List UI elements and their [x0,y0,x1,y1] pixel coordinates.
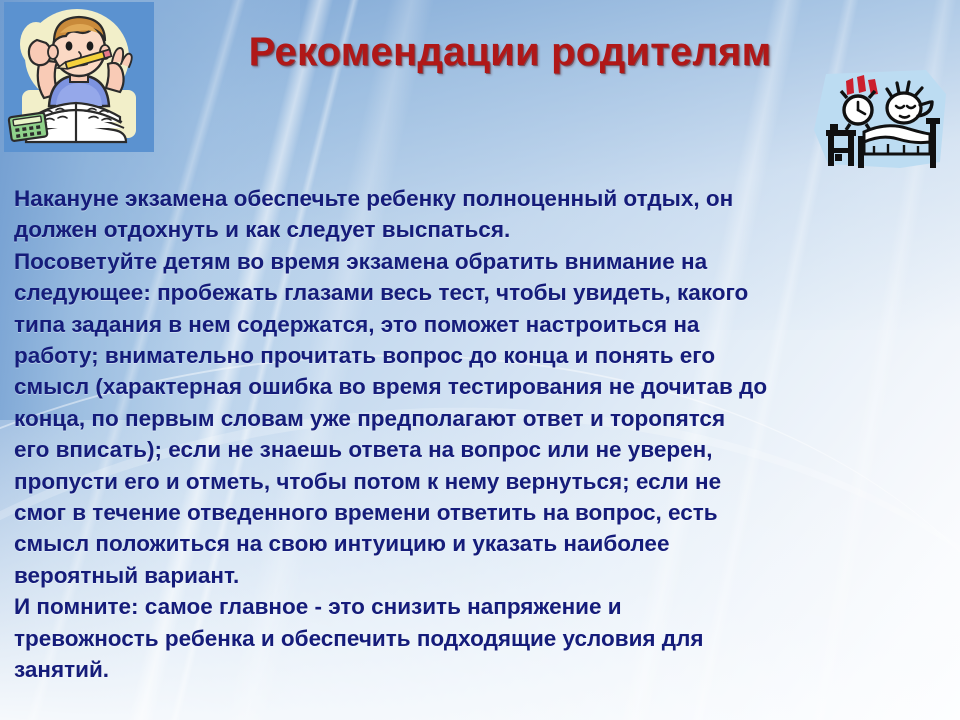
body-text-line: смог в течение отведенного времени ответ… [14,497,944,528]
body-text-line: занятий. [14,654,944,685]
sleeping-in-bed-icon [808,68,952,172]
body-text-line: пропусти его и отметь, чтобы потом к нем… [14,466,944,497]
body-text-line: смысл положиться на свою интуицию и указ… [14,528,944,559]
slide-title: Рекомендации родителям [180,30,840,75]
body-text-line: смысл (характерная ошибка во время тести… [14,371,944,402]
body-text-line: конца, по первым словам уже предполагают… [14,403,944,434]
body-text-line: типа задания в нем содержатся, это помож… [14,309,944,340]
body-text-line: вероятный вариант. [14,560,944,591]
body-text-line: его вписать); если не знаешь ответа на в… [14,434,944,465]
body-text-line: И помните: самое главное - это снизить н… [14,591,944,622]
body-text-line: работу; внимательно прочитать вопрос до … [14,340,944,371]
body-text-line: тревожность ребенка и обеспечить подходя… [14,623,944,654]
body-text-line: должен отдохнуть и как следует выспаться… [14,214,944,245]
boy-studying-icon [4,2,154,152]
body-text-line: Накануне экзамена обеспечьте ребенку пол… [14,183,944,214]
body-text-line: Посоветуйте детям во время экзамена обра… [14,246,944,277]
body-text-line: следующее: пробежать глазами весь тест, … [14,277,944,308]
presentation-slide: Рекомендации родителям Накануне экзамена… [0,0,960,720]
slide-body-text: Накануне экзамена обеспечьте ребенку пол… [14,183,944,686]
